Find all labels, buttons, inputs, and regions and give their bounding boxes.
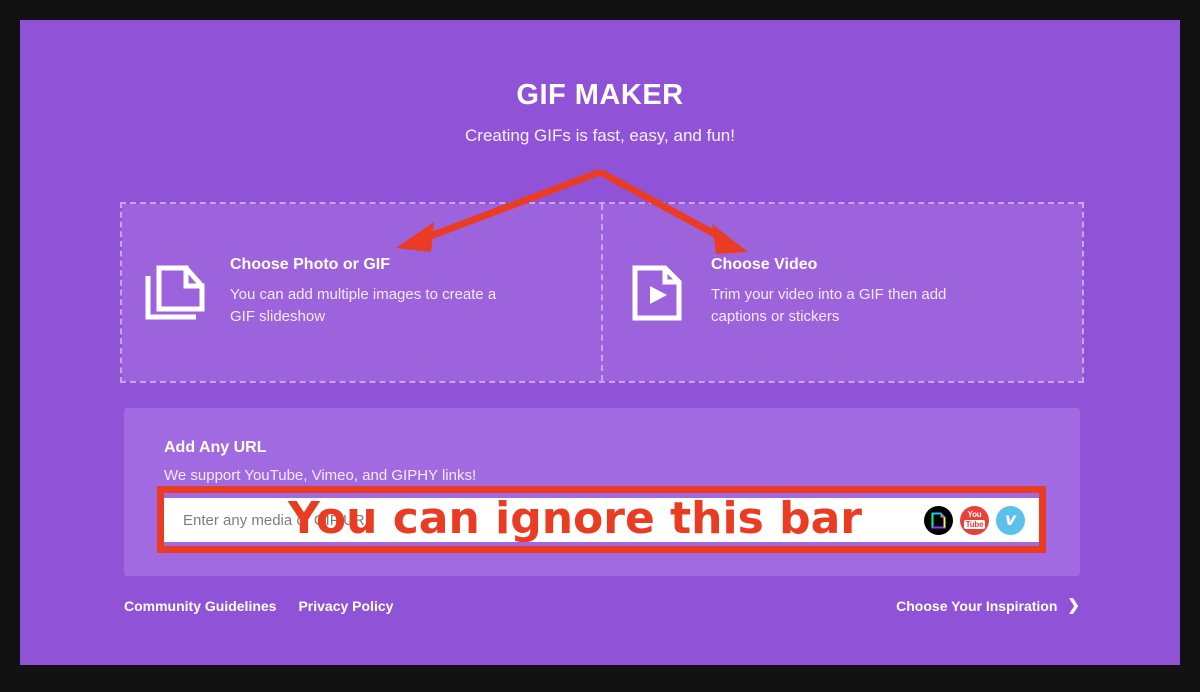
- youtube-icon-bottom: Tube: [964, 520, 986, 529]
- card-description: Trim your video into a GIF then add capt…: [711, 284, 996, 328]
- chevron-right-icon: ❯: [1067, 598, 1080, 613]
- community-guidelines-link[interactable]: Community Guidelines: [124, 599, 276, 613]
- footer-links: Community Guidelines Privacy Policy: [124, 599, 393, 613]
- page-title: GIF MAKER: [20, 81, 1180, 110]
- card-title: Choose Photo or GIF: [230, 257, 515, 273]
- url-input[interactable]: [181, 497, 924, 543]
- vimeo-icon-letter: v: [1005, 512, 1016, 529]
- youtube-icon-top: You: [968, 511, 982, 519]
- vimeo-icon[interactable]: v: [996, 506, 1025, 535]
- gif-maker-page: GIF MAKER Creating GIFs is fast, easy, a…: [20, 20, 1180, 665]
- card-title: Choose Video: [711, 257, 996, 273]
- giphy-icon[interactable]: [924, 506, 953, 535]
- choose-your-inspiration-link[interactable]: Choose Your Inspiration ❯: [896, 598, 1080, 613]
- upload-options: Choose Photo or GIF You can add multiple…: [120, 202, 1084, 383]
- supported-service-icons: You Tube v: [924, 506, 1025, 535]
- stacked-photos-icon: [122, 264, 230, 322]
- page-subtitle: Creating GIFs is fast, easy, and fun!: [20, 127, 1180, 144]
- add-url-title: Add Any URL: [164, 440, 1040, 456]
- privacy-policy-link[interactable]: Privacy Policy: [298, 599, 393, 613]
- choose-photo-or-gif-card[interactable]: Choose Photo or GIF You can add multiple…: [122, 204, 601, 381]
- url-input-row: You Tube v: [164, 498, 1040, 542]
- youtube-icon[interactable]: You Tube: [960, 506, 989, 535]
- add-url-subtitle: We support YouTube, Vimeo, and GIPHY lin…: [164, 468, 1040, 483]
- card-description: You can add multiple images to create a …: [230, 284, 515, 328]
- video-file-play-icon: [603, 264, 711, 322]
- choose-your-inspiration-label: Choose Your Inspiration: [896, 599, 1057, 613]
- add-url-panel: Add Any URL We support YouTube, Vimeo, a…: [124, 408, 1080, 576]
- choose-video-card[interactable]: Choose Video Trim your video into a GIF …: [601, 204, 1082, 381]
- page-header: GIF MAKER Creating GIFs is fast, easy, a…: [20, 20, 1180, 144]
- choose-photo-or-gif-text: Choose Photo or GIF You can add multiple…: [230, 257, 533, 328]
- choose-video-text: Choose Video Trim your video into a GIF …: [711, 257, 1014, 328]
- screenshot-frame: GIF MAKER Creating GIFs is fast, easy, a…: [0, 0, 1200, 692]
- footer: Community Guidelines Privacy Policy Choo…: [124, 598, 1080, 613]
